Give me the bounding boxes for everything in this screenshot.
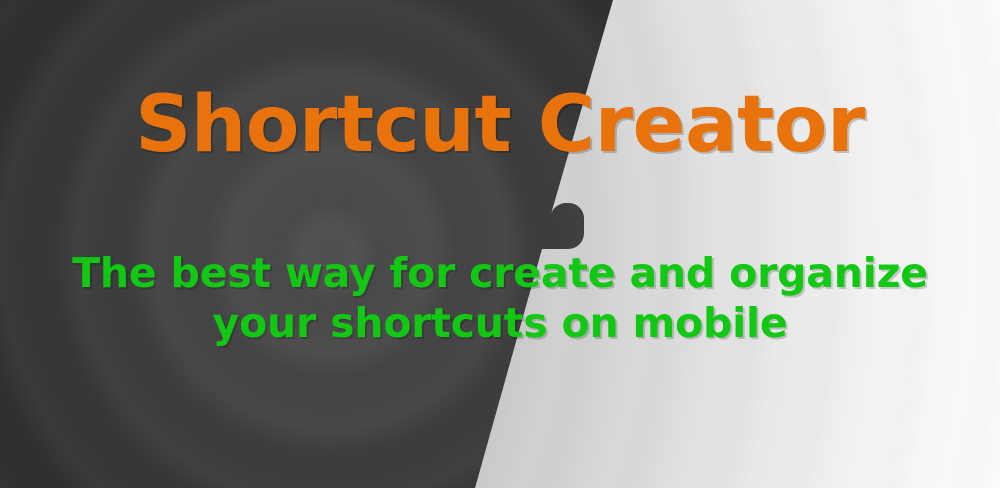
app-banner: Shortcut Creator The best way for create… (0, 0, 1000, 488)
